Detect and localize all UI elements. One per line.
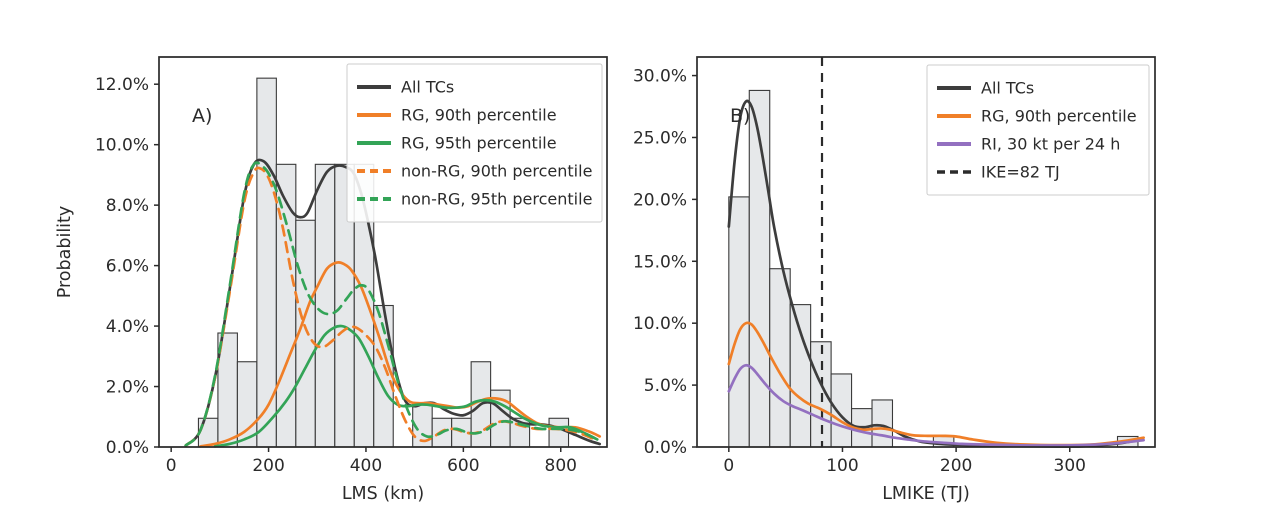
- x-tick-label: 400: [350, 456, 382, 476]
- histogram-bar: [276, 164, 295, 447]
- y-tick-label: 4.0%: [106, 317, 149, 337]
- x-tick-label: 600: [447, 456, 479, 476]
- legend-label: RG, 90th percentile: [981, 107, 1137, 126]
- histogram-bar: [549, 418, 568, 447]
- y-tick-label: 30.0%: [634, 67, 687, 87]
- y-tick-label: 0.0%: [106, 438, 149, 458]
- legend: All TCsRG, 90th percentileRG, 95th perce…: [347, 64, 602, 222]
- legend-label: non-RG, 90th percentile: [401, 162, 592, 181]
- legend-label: RI, 30 kt per 24 h: [981, 135, 1120, 154]
- y-tick-label: 0.0%: [644, 438, 687, 458]
- x-tick-label: 100: [826, 456, 858, 476]
- y-tick-label: 15.0%: [634, 252, 687, 272]
- histogram-bar: [315, 164, 334, 447]
- y-tick-label: 2.0%: [106, 378, 149, 398]
- legend: All TCsRG, 90th percentileRI, 30 kt per …: [927, 65, 1149, 195]
- histogram-bar: [872, 400, 892, 447]
- legend-label: All TCs: [981, 79, 1034, 98]
- y-tick-label: 8.0%: [106, 196, 149, 216]
- histogram-bar: [811, 342, 831, 447]
- legend-label: RG, 95th percentile: [401, 134, 557, 153]
- y-tick-label: 10.0%: [95, 136, 149, 156]
- x-tick-label: 800: [545, 456, 577, 476]
- panel-tag: B): [730, 105, 750, 127]
- x-tick-label: 0: [166, 456, 177, 476]
- panel-tag: A): [192, 105, 212, 127]
- panel-a: 02004006008000.0%2.0%4.0%6.0%8.0%10.0%12…: [0, 0, 634, 507]
- figure-container: 02004006008000.0%2.0%4.0%6.0%8.0%10.0%12…: [0, 0, 1269, 507]
- y-tick-label: 12.0%: [95, 75, 149, 95]
- y-tick-label: 6.0%: [106, 257, 149, 277]
- y-tick-label: 5.0%: [644, 376, 687, 396]
- histogram-bar: [831, 374, 851, 447]
- legend-label: RG, 90th percentile: [401, 106, 557, 125]
- x-axis-title: LMS (km): [342, 484, 424, 504]
- legend-label: non-RG, 95th percentile: [401, 190, 592, 209]
- y-tick-label: 25.0%: [634, 128, 687, 148]
- histogram-bar: [790, 305, 810, 447]
- x-axis-title: LMIKE (TJ): [882, 484, 970, 504]
- plot-area-A: 02004006008000.0%2.0%4.0%6.0%8.0%10.0%12…: [0, 0, 634, 507]
- x-tick-label: 200: [252, 456, 284, 476]
- legend-label: IKE=82 TJ: [981, 163, 1060, 182]
- panel-b: 01002003000.0%5.0%10.0%15.0%20.0%25.0%30…: [634, 0, 1269, 507]
- x-tick-label: 200: [940, 456, 972, 476]
- x-tick-label: 300: [1054, 456, 1086, 476]
- x-tick-label: 0: [723, 456, 734, 476]
- plot-area-B: 01002003000.0%5.0%10.0%15.0%20.0%25.0%30…: [634, 0, 1269, 507]
- y-axis-title: Probability: [55, 206, 75, 299]
- y-tick-label: 20.0%: [634, 190, 687, 210]
- legend-label: All TCs: [401, 78, 454, 97]
- y-tick-label: 10.0%: [634, 314, 687, 334]
